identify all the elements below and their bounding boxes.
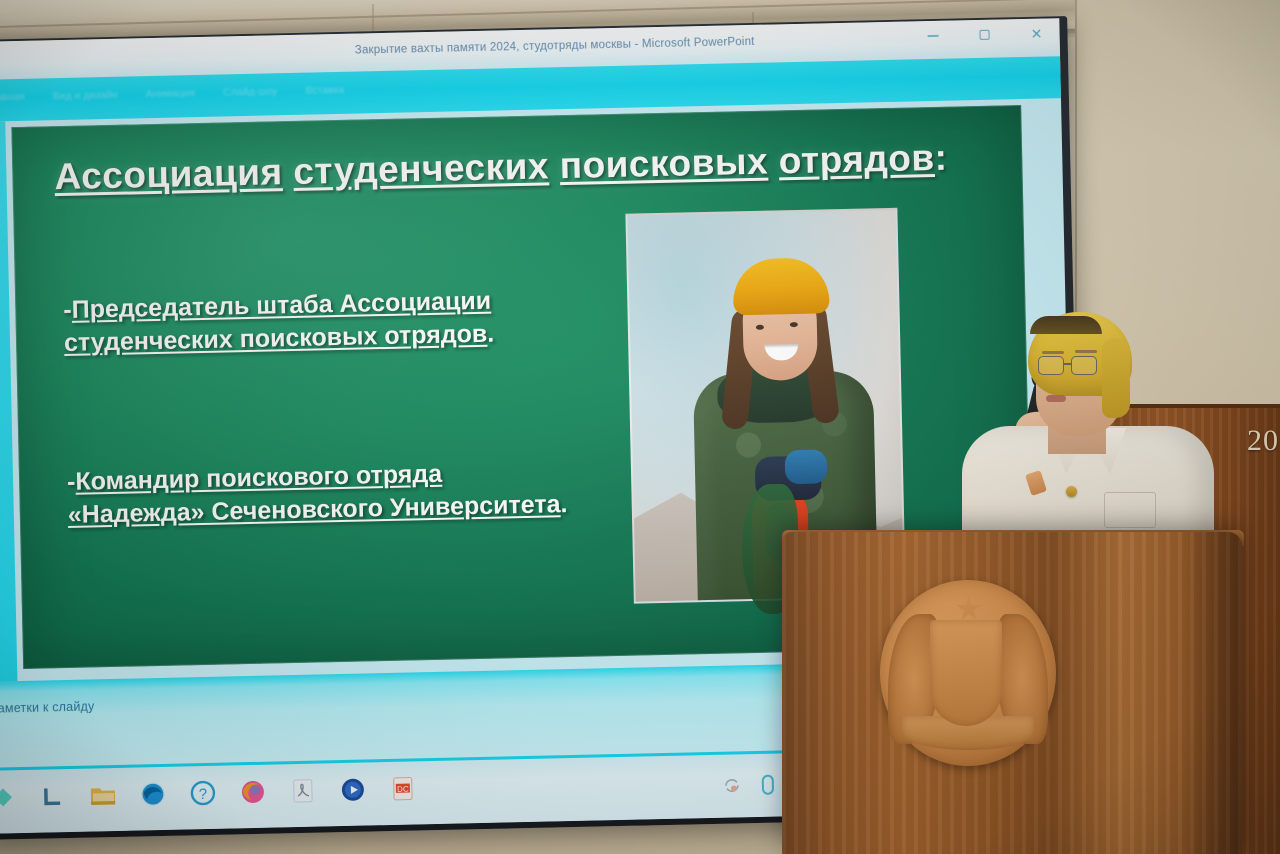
slide-bullet-1: -Председатель штаба Ассоциации студенчес… xyxy=(63,283,564,360)
speaker-hair-roots xyxy=(1030,316,1102,334)
bullet-1-line-1: Председатель штаба Ассоциации xyxy=(71,287,491,324)
menu-item-1[interactable]: Вид и дизайн xyxy=(53,89,118,102)
help-icon[interactable]: ? xyxy=(186,776,221,811)
system-tray xyxy=(722,774,777,802)
podium-emblem xyxy=(880,580,1056,766)
photo-scene: 20 Закрытие вахты памяти 2024, студотряд… xyxy=(0,0,1280,854)
slide-title-colon: : xyxy=(934,137,948,178)
speaker-eyebrow-left xyxy=(1042,351,1064,354)
minimize-icon[interactable] xyxy=(921,25,943,47)
firefox-icon[interactable] xyxy=(236,775,271,810)
glasses-lens-right xyxy=(1071,356,1097,375)
start-icon[interactable] xyxy=(0,780,20,815)
speaker-hair-side xyxy=(1102,338,1130,418)
menu-item-2[interactable]: Анимация xyxy=(146,87,196,100)
bullet-1-line-2: студенческих поисковых отрядов xyxy=(64,320,488,357)
speaker-glasses xyxy=(1038,356,1106,376)
task-view-icon[interactable] xyxy=(36,779,71,814)
pill-icon[interactable] xyxy=(760,774,777,801)
menu-item-4[interactable]: Вставка xyxy=(305,84,344,97)
slide-title-word-1: студенческих xyxy=(293,145,550,192)
slide-bullet-2: -Командир поискового отряда «Надежда» Се… xyxy=(67,455,568,532)
slide-title-word-3: отрядов xyxy=(778,137,935,181)
office-app-icon[interactable]: DC xyxy=(386,771,421,806)
svg-text:DC: DC xyxy=(397,785,409,794)
sync-icon[interactable] xyxy=(722,775,743,800)
edge-browser-icon[interactable] xyxy=(136,777,171,812)
menu-item-0[interactable]: Главная xyxy=(0,91,25,104)
glasses-bridge xyxy=(1064,363,1071,365)
emblem-shield xyxy=(930,620,1002,726)
lapel-pin xyxy=(1025,470,1047,496)
slide-title-word-2: поисковых xyxy=(559,141,768,187)
photo-person-glove-blue xyxy=(785,449,828,484)
notes-placeholder: Заметки к слайду xyxy=(0,699,95,715)
window-controls: ✕ xyxy=(921,22,1047,47)
close-icon[interactable]: ✕ xyxy=(1025,22,1047,44)
bullet-2-period: . xyxy=(560,490,568,518)
taskbar-icon-group: ? xyxy=(0,771,420,814)
lapel-badge xyxy=(1066,486,1077,497)
speaker-mouth xyxy=(1046,395,1066,402)
file-explorer-icon[interactable] xyxy=(86,778,121,813)
adobe-acrobat-icon[interactable] xyxy=(286,774,321,809)
shirt-pocket xyxy=(1104,492,1156,528)
bullet-1-period: . xyxy=(487,320,495,348)
podium-side-shadow xyxy=(1178,532,1242,854)
bullet-2-line-1: Командир поискового отряда xyxy=(75,460,442,496)
menu-item-3[interactable]: Слайд-шоу xyxy=(223,85,278,98)
emblem-star xyxy=(956,596,982,622)
slide-title-word-0: Ассоциация xyxy=(54,151,283,197)
wall-number-label: 20 xyxy=(1247,424,1279,458)
restore-icon[interactable] xyxy=(973,24,995,46)
glasses-lens-left xyxy=(1038,356,1064,375)
svg-text:?: ? xyxy=(199,786,208,803)
speaker-eyebrow-right xyxy=(1075,350,1097,353)
media-player-icon[interactable] xyxy=(336,772,371,807)
